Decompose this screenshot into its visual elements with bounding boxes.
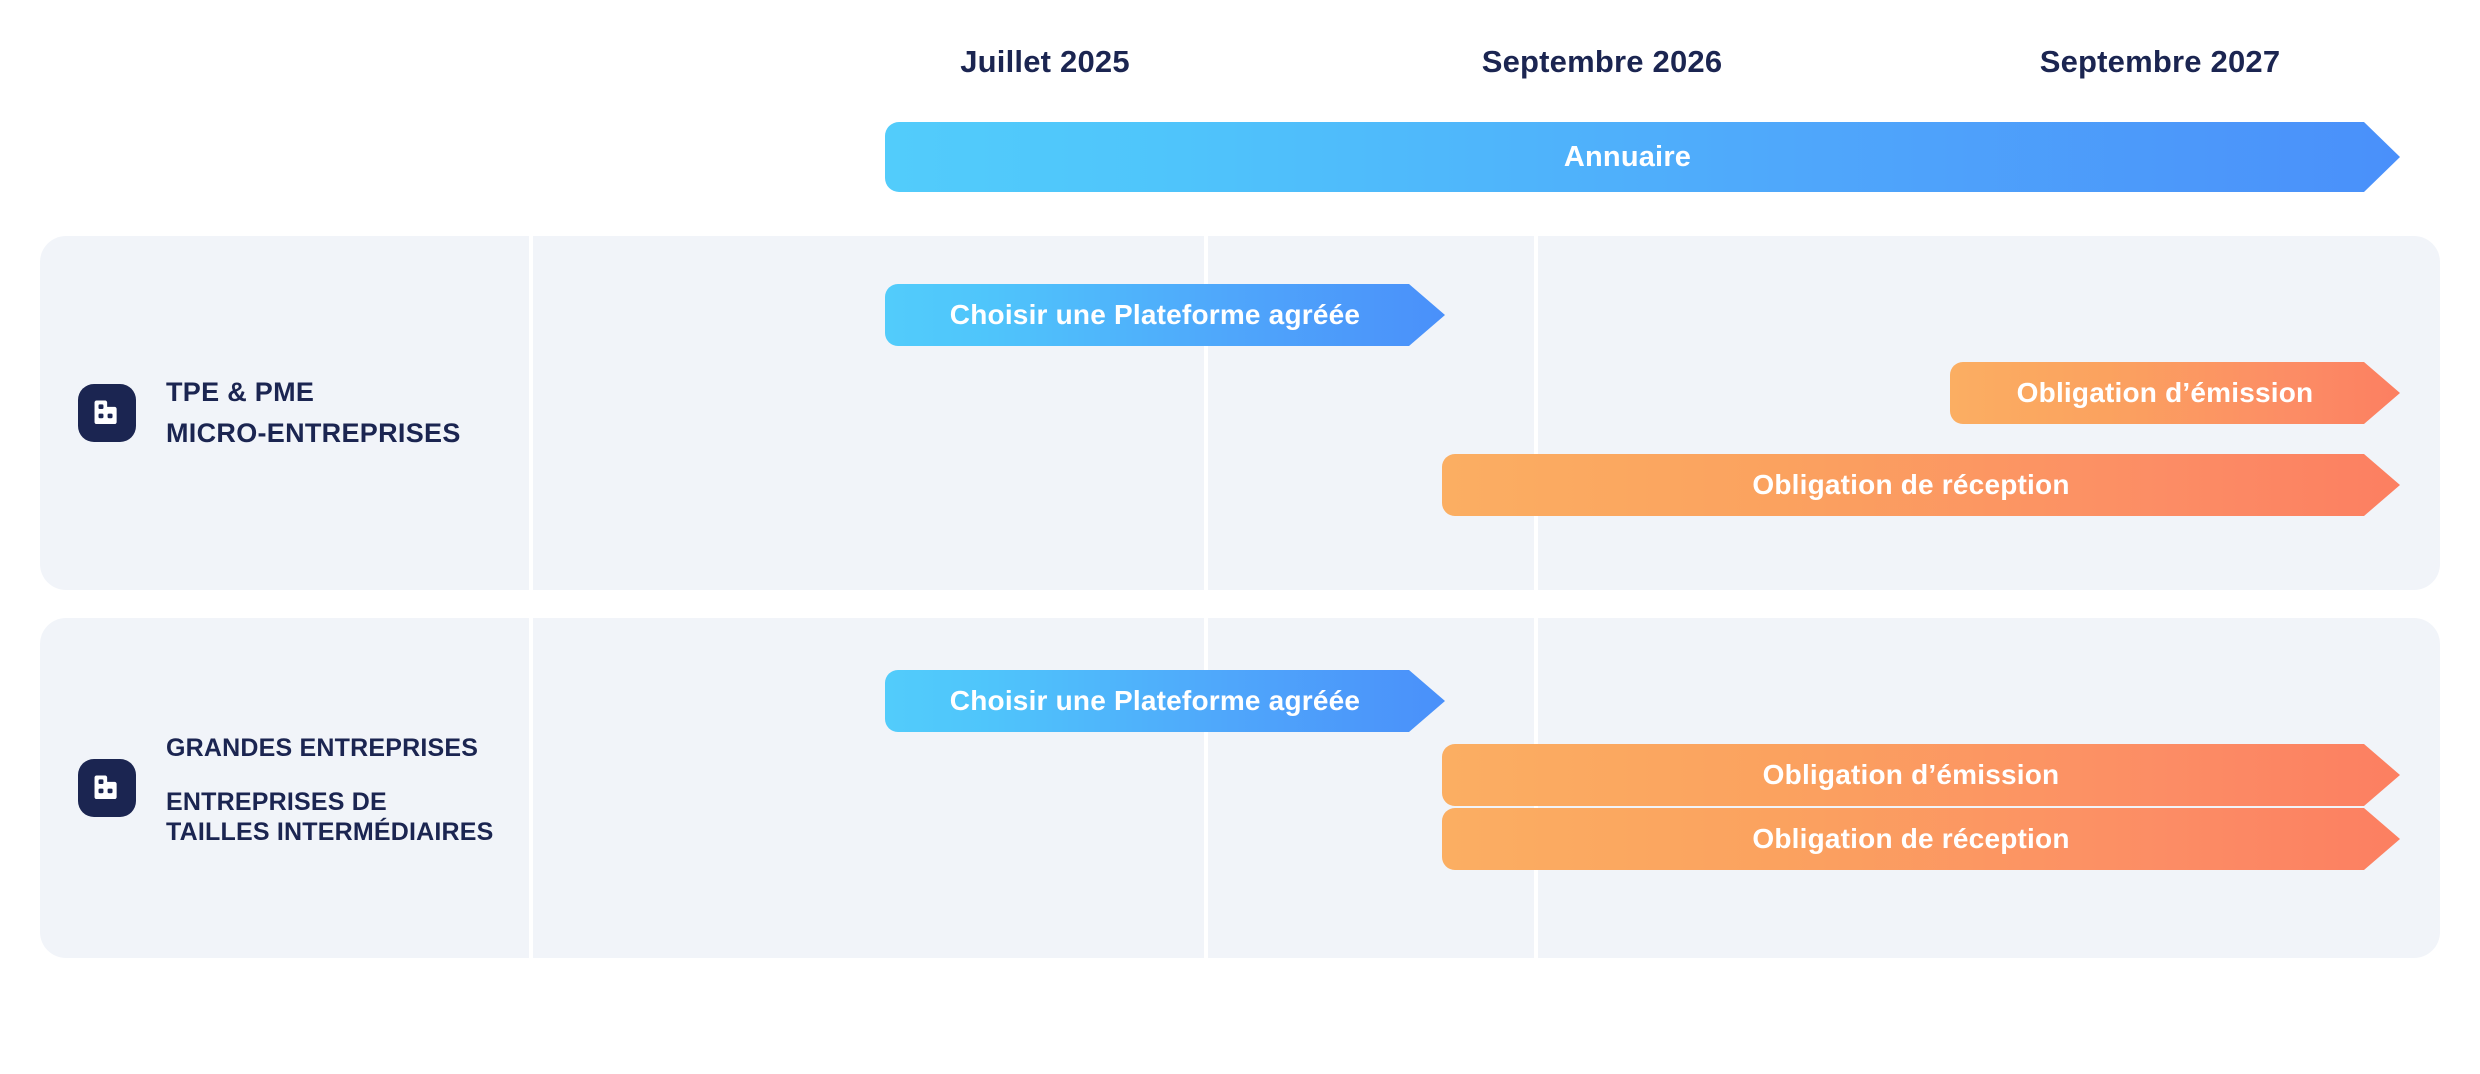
task-bar-shape: Obligation de réception bbox=[1442, 808, 2400, 870]
task-bar-shape: Obligation d’émission bbox=[1442, 744, 2400, 806]
task-bar-choisir-plateforme[interactable]: Choisir une Plateforme agréée bbox=[885, 284, 1445, 346]
task-bar-label: Obligation d’émission bbox=[1950, 377, 2400, 409]
task-bar-obligation-emission[interactable]: Obligation d’émission bbox=[1442, 744, 2400, 806]
annuaire-bar-label: Annuaire bbox=[885, 141, 2400, 174]
timeline-infographic: Juillet 2025 Septembre 2026 Septembre 20… bbox=[0, 0, 2480, 1074]
annuaire-bar-shape: Annuaire bbox=[885, 122, 2400, 192]
group-card-tpe-pme: TPE & PME MICRO-ENTREPRISES Choisir une … bbox=[40, 236, 2440, 590]
task-bar-shape: Choisir une Plateforme agréée bbox=[885, 284, 1445, 346]
timeline-date-label-1: Septembre 2026 bbox=[1352, 36, 1852, 88]
group-card-grandes-entreprises: GRANDES ENTREPRISES ENTREPRISES DE TAILL… bbox=[40, 618, 2440, 958]
task-bar-obligation-reception[interactable]: Obligation de réception bbox=[1442, 454, 2400, 516]
task-bar-choisir-plateforme[interactable]: Choisir une Plateforme agréée bbox=[885, 670, 1445, 732]
annuaire-bar[interactable]: Annuaire bbox=[885, 122, 2400, 192]
task-bar-shape: Obligation de réception bbox=[1442, 454, 2400, 516]
task-bar-label: Choisir une Plateforme agréée bbox=[885, 685, 1445, 717]
task-bar-label: Obligation de réception bbox=[1442, 469, 2400, 501]
task-bar-label: Obligation de réception bbox=[1442, 823, 2400, 855]
task-bar-shape: Choisir une Plateforme agréée bbox=[885, 670, 1445, 732]
task-bars-area-0: Choisir une Plateforme agréée Obligation… bbox=[40, 236, 2440, 590]
task-bar-shape: Obligation d’émission bbox=[1950, 362, 2400, 424]
task-bars-area-1: Choisir une Plateforme agréée Obligation… bbox=[40, 618, 2440, 958]
timeline-date-label-0: Juillet 2025 bbox=[795, 36, 1295, 88]
task-bar-label: Choisir une Plateforme agréée bbox=[885, 299, 1445, 331]
timeline-date-label-2: Septembre 2027 bbox=[1910, 36, 2410, 88]
task-bar-obligation-emission[interactable]: Obligation d’émission bbox=[1950, 362, 2400, 424]
task-bar-label: Obligation d’émission bbox=[1442, 759, 2400, 791]
task-bar-obligation-reception[interactable]: Obligation de réception bbox=[1442, 808, 2400, 870]
